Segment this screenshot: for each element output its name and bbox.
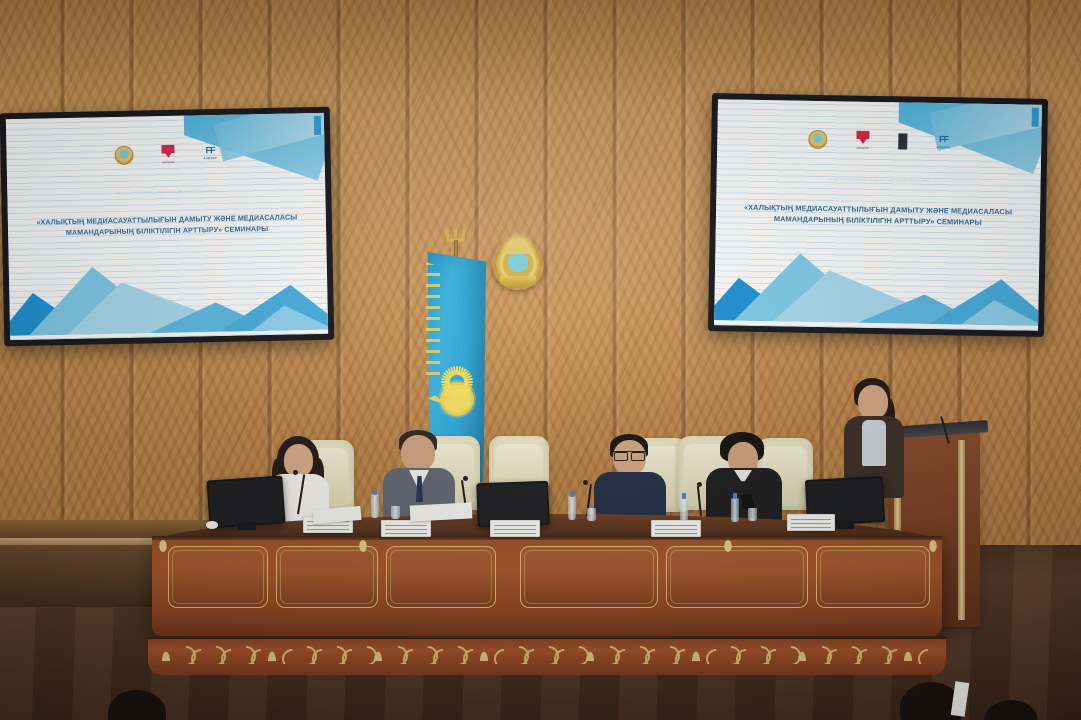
auezov-university-logo: FF AUEZOV	[937, 135, 951, 149]
presentation-slide: Qazaqstan FF AUEZOV ҚАЗАҚСТАН РЕСПУБЛИКА…	[6, 113, 328, 340]
state-emblem-icon	[808, 130, 827, 149]
blouse	[862, 420, 886, 466]
nameplate-5	[787, 514, 835, 531]
auezov-university-logo: FF AUEZOV	[203, 146, 217, 160]
water-bottle-4	[731, 498, 739, 522]
water-glass-3	[748, 508, 757, 521]
state-emblem-wall-icon	[492, 238, 544, 290]
eyeglasses-icon	[614, 451, 645, 459]
head	[401, 435, 435, 471]
tulip-icon	[856, 131, 869, 146]
monitor-left-stand	[238, 522, 256, 530]
slide-mountain-graphic	[714, 246, 1039, 326]
kazakhstan-state-emblem-logo	[808, 130, 827, 149]
monitor-left[interactable]	[206, 475, 285, 528]
lectern-column-right	[958, 440, 965, 620]
conference-hall-photo: Qazaqstan FF AUEZOV ҚАЗАҚСТАН РЕСПУБЛИКА…	[0, 0, 1081, 720]
slide-title: «ХАЛЫҚТЫҢ МЕДИАСАУАТТЫЛЫҒЫН ДАМЫТУ ЖӘНЕ …	[21, 213, 314, 241]
left-wall-display[interactable]: Qazaqstan FF AUEZOV ҚАЗАҚСТАН РЕСПУБЛИКА…	[0, 107, 334, 347]
right-display-panel: Qazaqstan FF AUEZOV ҚАЗАҚСТАН РЕСПУБЛИКА…	[714, 99, 1042, 331]
left-display-panel: Qazaqstan FF AUEZOV ҚАЗАҚСТАН РЕСПУБЛИКА…	[6, 113, 328, 340]
dark-block-icon	[898, 133, 907, 149]
scroll-fan-ornament	[796, 647, 808, 661]
slide-mountain-graphic	[9, 256, 328, 335]
scroll-fan-ornament	[160, 647, 172, 661]
tulip-logo-caption: Qazaqstan	[857, 147, 870, 150]
microphone-3-head	[583, 480, 588, 485]
state-emblem-icon	[114, 145, 133, 164]
nameplate-4	[651, 520, 701, 537]
auezov-logo-caption: AUEZOV	[937, 145, 951, 149]
desk-front-panelling	[152, 536, 942, 636]
water-bottle-3	[680, 498, 688, 522]
desk-panel	[520, 546, 658, 608]
auezov-mark-icon: FF	[939, 135, 948, 144]
desk-gold-scrollwork	[160, 644, 934, 664]
tulip-logo-caption: Qazaqstan	[162, 161, 175, 164]
head	[284, 444, 313, 477]
auezov-logo-caption: AUEZOV	[203, 156, 217, 160]
scroll-fan-ornament	[584, 647, 596, 661]
scroll-curl-ornament	[914, 645, 934, 664]
desk-panel	[386, 546, 496, 608]
desk-small-object	[206, 521, 218, 529]
slide-subtitle: ҚАЗАҚСТАН РЕСПУБЛИКАСЫ МӘДЕНИЕТ ЖӘНЕ АҚП…	[33, 188, 300, 197]
scroll-fan-ornament	[690, 647, 702, 661]
desk-panel	[168, 546, 268, 608]
kazakhstan-state-emblem-logo	[114, 145, 133, 164]
tulip-icon	[162, 145, 175, 160]
red-tulip-logo: Qazaqstan	[162, 145, 175, 164]
slide-title: «ХАЛЫҚТЫҢ МЕДИАСАУАТТЫЛЫҒЫН ДАМЫТУ ЖӘНЕ …	[729, 201, 1027, 229]
microphone-1-head	[293, 470, 298, 475]
dark-logo-block	[898, 133, 907, 149]
auezov-mark-icon: FF	[206, 146, 215, 155]
desk-panel	[666, 546, 808, 608]
desk-gold-fan-ornament	[358, 538, 368, 554]
scroll-fan-ornament	[478, 647, 490, 661]
scroll-fan-ornament	[266, 647, 278, 661]
water-glass-2	[587, 508, 596, 521]
water-glass-1	[391, 506, 400, 519]
scroll-fan-ornament	[372, 647, 384, 661]
desk-panel	[276, 546, 378, 608]
microphone-4-head	[697, 482, 702, 487]
microphone-2-head	[463, 476, 468, 481]
desk-panel	[816, 546, 930, 608]
nameplate-3	[490, 520, 540, 537]
water-bottle-2	[568, 496, 576, 520]
red-tulip-logo: Qazaqstan	[856, 131, 869, 150]
desk-gold-fan-ornament	[723, 538, 733, 554]
flag-ornament-band	[426, 262, 440, 380]
right-wall-display[interactable]: Qazaqstan FF AUEZOV ҚАЗАҚСТАН РЕСПУБЛИКА…	[708, 93, 1048, 337]
presentation-slide: Qazaqstan FF AUEZOV ҚАЗАҚСТАН РЕСПУБЛИКА…	[714, 99, 1042, 331]
desk-gold-fan-ornament	[158, 538, 168, 554]
monitor-right-stand	[836, 520, 854, 529]
nameplate-2	[381, 520, 431, 537]
head	[858, 385, 888, 419]
water-bottle-1	[371, 494, 379, 518]
desk-gold-fan-ornament	[928, 538, 938, 554]
document-sheet-2	[410, 502, 473, 521]
scroll-fan-ornament	[902, 647, 914, 661]
